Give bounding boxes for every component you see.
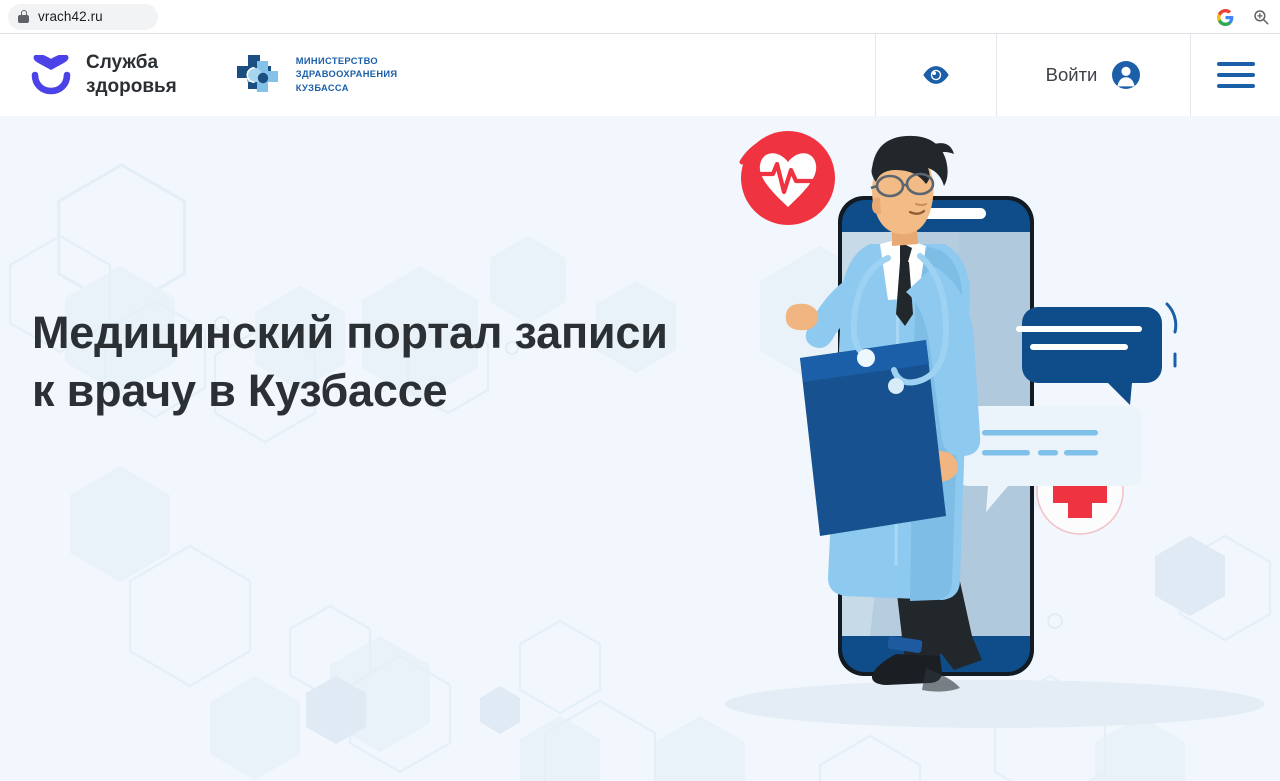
- user-avatar-icon: [1111, 60, 1141, 90]
- chat-bubble-incoming: [1016, 304, 1176, 405]
- address-bar[interactable]: vrach42.ru: [8, 4, 158, 30]
- hamburger-menu-icon: [1217, 62, 1255, 88]
- brand-logo-link[interactable]: Служба здоровья: [0, 34, 177, 116]
- login-button[interactable]: Войти: [996, 34, 1190, 116]
- clipboard-graphic: [800, 340, 946, 536]
- eye-icon: [922, 64, 950, 86]
- magnifier-icon[interactable]: [1252, 8, 1270, 26]
- google-g-icon[interactable]: [1217, 9, 1234, 26]
- ministry-title: Министерство здравоохранения Кузбасса: [296, 55, 398, 95]
- address-bar-url: vrach42.ru: [38, 9, 103, 24]
- brand-title: Служба здоровья: [86, 51, 177, 98]
- ground-shadow: [725, 680, 1265, 728]
- medical-cross-logo-icon: [233, 51, 285, 99]
- lock-icon: [18, 10, 29, 23]
- hero-section: Медицинский портал записи к врачу в Кузб…: [0, 116, 1280, 781]
- login-label: Войти: [1046, 64, 1098, 86]
- page-title: Медицинский портал записи к врачу в Кузб…: [32, 304, 692, 419]
- hamburger-menu-button[interactable]: [1190, 34, 1280, 116]
- site-header: Служба здоровья Министерство здравоохран…: [0, 34, 1280, 116]
- heart-pulse-badge-icon: [741, 131, 835, 225]
- ministry-logo-link[interactable]: Министерство здравоохранения Кузбасса: [233, 34, 398, 116]
- heart-smile-logo-icon: [30, 55, 72, 95]
- doctor-with-smartphone-illustration: [720, 116, 1280, 781]
- browser-toolbar: vrach42.ru: [0, 0, 1280, 34]
- browser-toolbar-actions: [1217, 0, 1270, 34]
- header-spacer: [397, 34, 875, 116]
- accessibility-toggle-button[interactable]: [875, 34, 996, 116]
